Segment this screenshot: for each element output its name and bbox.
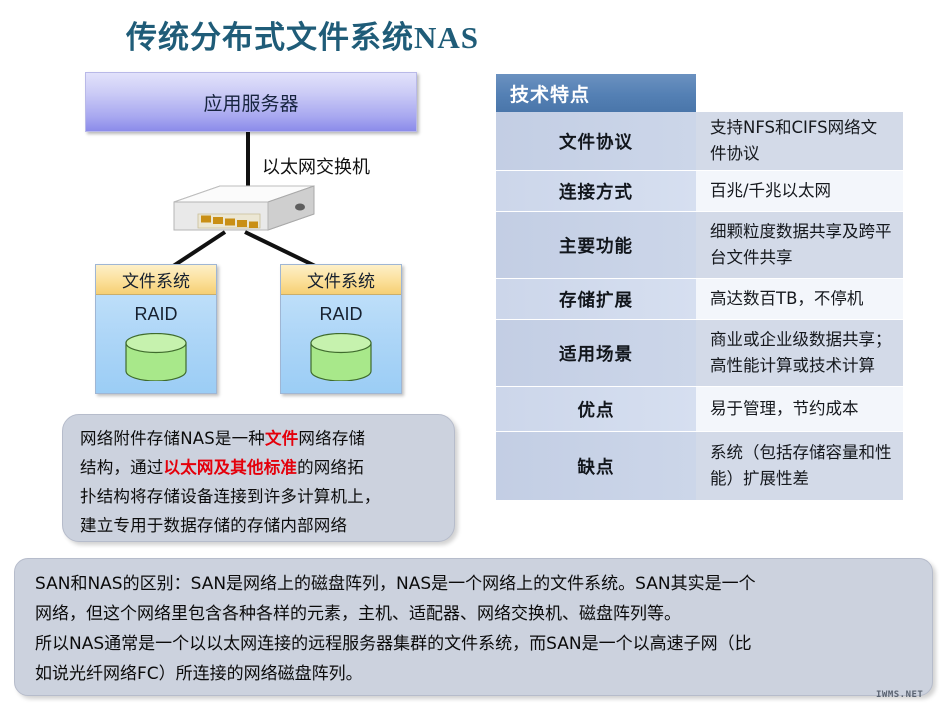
table-cell-value: 系统（包括存储容量和性能）扩展性差	[696, 432, 903, 501]
summary-line-4: 如说光纤网络FC）所连接的网络磁盘阵列。	[35, 659, 914, 689]
raid-label: RAID	[96, 304, 216, 325]
app-server-box: 应用服务器	[85, 72, 417, 132]
table-cell-key: 主要功能	[496, 212, 696, 279]
switch-label: 以太网交换机	[262, 153, 370, 179]
raid-label: RAID	[281, 304, 401, 325]
callout-line-3: 扑结构将存储设备连接到许多计算机上，	[80, 482, 438, 511]
file-system-label: 文件系统	[307, 267, 375, 292]
table-cell-key: 适用场景	[496, 320, 696, 387]
san-nas-summary-box: SAN和NAS的区别：SAN是网络上的磁盘阵列，NAS是一个网络上的文件系统。S…	[14, 558, 933, 696]
tech-features-table: 技术特点 文件协议 支持NFS和CIFS网络文件协议 连接方式 百兆/千兆以太网…	[496, 74, 903, 501]
app-server-label: 应用服务器	[203, 89, 298, 116]
table-row: 主要功能 细颗粒度数据共享及跨平台文件共享	[496, 212, 903, 279]
callout-line-4: 建立专用于数据存储的存储内部网络	[80, 511, 438, 540]
summary-line-1: SAN和NAS的区别：SAN是网络上的磁盘阵列，NAS是一个网络上的文件系统。S…	[35, 569, 914, 599]
table-cell-value: 商业或企业级数据共享；高性能计算或技术计算	[696, 320, 903, 387]
table-cell-value: 易于管理，节约成本	[696, 387, 903, 432]
ethernet-switch-icon	[168, 184, 316, 236]
file-system-node: 文件系统 RAID	[95, 264, 217, 394]
table-row: 存储扩展 高达数百TB，不停机	[496, 279, 903, 320]
callout-text: 网络存储	[298, 429, 365, 448]
table-header-spacer	[696, 74, 903, 112]
callout-highlight-file: 文件	[265, 429, 298, 448]
table-cell-key: 存储扩展	[496, 279, 696, 320]
storage-cylinder-icon	[123, 333, 189, 381]
table-row: 适用场景 商业或企业级数据共享；高性能计算或技术计算	[496, 320, 903, 387]
file-system-node: 文件系统 RAID	[280, 264, 402, 394]
callout-text: 网络附件存储NAS是一种	[80, 429, 265, 448]
file-system-header: 文件系统	[281, 265, 401, 295]
table-header-row: 技术特点	[496, 74, 903, 112]
callout-highlight-ethernet: 以太网及其他标准	[164, 458, 298, 477]
table-cell-key: 缺点	[496, 432, 696, 501]
table-row: 优点 易于管理，节约成本	[496, 387, 903, 432]
callout-text: 结构，通过	[80, 458, 164, 477]
callout-line-1: 网络附件存储NAS是一种文件网络存储	[80, 424, 438, 453]
storage-cylinder-icon	[308, 333, 374, 381]
table-cell-key: 文件协议	[496, 112, 696, 171]
table-cell-value: 高达数百TB，不停机	[696, 279, 903, 320]
callout-text: 的网络拓	[297, 458, 364, 477]
file-system-header: 文件系统	[96, 265, 216, 295]
table-row: 连接方式 百兆/千兆以太网	[496, 171, 903, 212]
table-cell-key: 连接方式	[496, 171, 696, 212]
callout-line-2: 结构，通过以太网及其他标准的网络拓	[80, 453, 438, 482]
table-row: 缺点 系统（包括存储容量和性能）扩展性差	[496, 432, 903, 501]
table-cell-value: 支持NFS和CIFS网络文件协议	[696, 112, 903, 171]
watermark: IWMS.NET	[876, 690, 923, 700]
table-cell-value: 细颗粒度数据共享及跨平台文件共享	[696, 212, 903, 279]
summary-line-3: 所以NAS通常是一个以以太网连接的远程服务器集群的文件系统，而SAN是一个以高速…	[35, 629, 914, 659]
table-cell-key: 优点	[496, 387, 696, 432]
summary-line-2: 网络，但这个网络里包含各种各样的元素，主机、适配器、网络交换机、磁盘阵列等。	[35, 599, 914, 629]
table-header-title: 技术特点	[496, 74, 696, 112]
slide-canvas: 传统分布式文件系统NAS 应用服务器 以太网交换机 文件系统 RAID	[0, 0, 947, 709]
nas-definition-callout: 网络附件存储NAS是一种文件网络存储 结构，通过以太网及其他标准的网络拓 扑结构…	[62, 414, 455, 542]
table-row: 文件协议 支持NFS和CIFS网络文件协议	[496, 112, 903, 171]
table-cell-value: 百兆/千兆以太网	[696, 171, 903, 212]
file-system-label: 文件系统	[122, 267, 190, 292]
